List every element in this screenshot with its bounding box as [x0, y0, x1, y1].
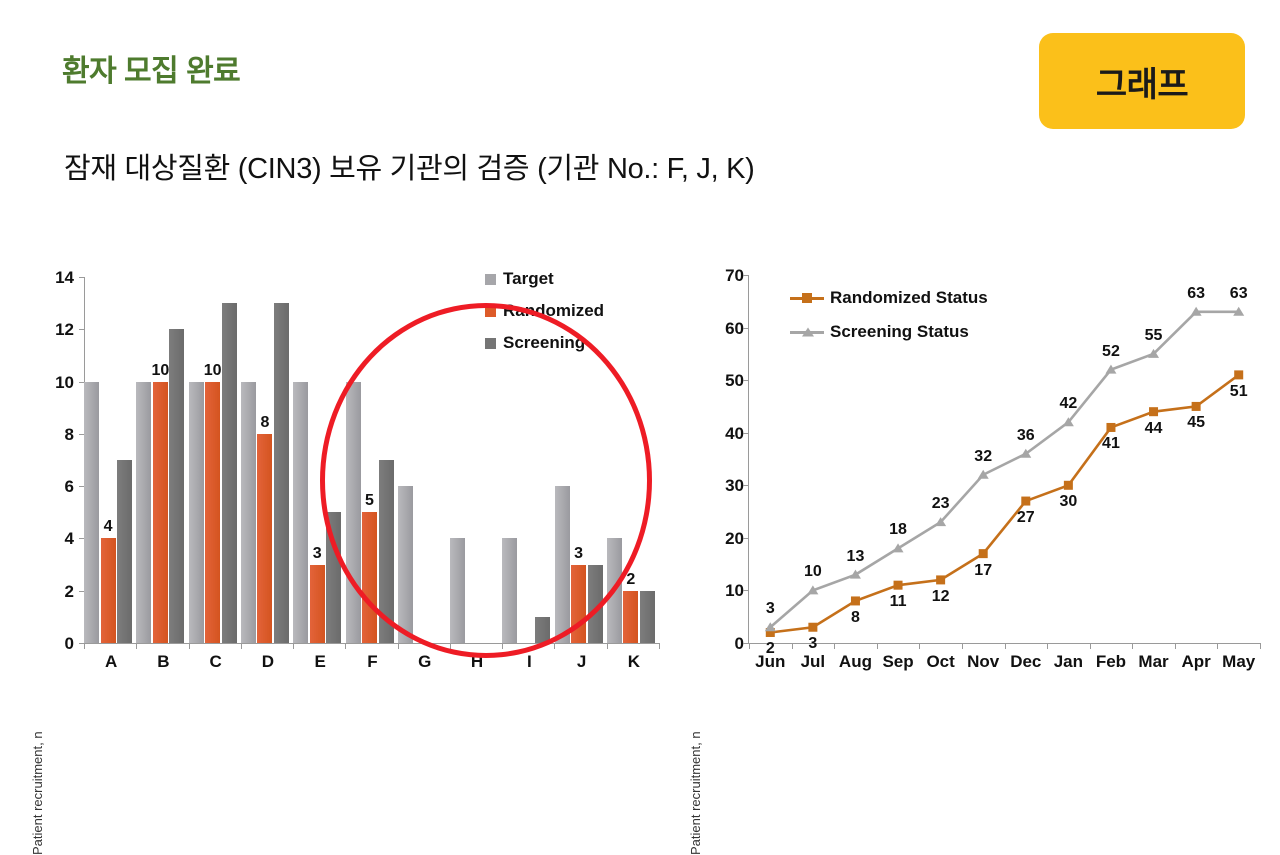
line-point-label-screening-status-Jul: 10: [793, 564, 833, 580]
line-marker-randomized-status-Dec: [1021, 497, 1030, 506]
bar-chart-y-tick-label: 4: [40, 530, 74, 547]
bar-chart-x-label-H: H: [451, 653, 503, 670]
bar-chart-y-tick-label: 6: [40, 478, 74, 495]
bar-legend-label: Randomized: [503, 301, 604, 321]
line-point-label-randomized-status-Nov: 17: [963, 563, 1003, 579]
bar-screening-D: [274, 303, 289, 643]
legend-triangle-marker-icon: [802, 328, 814, 337]
line-marker-randomized-status-Nov: [979, 549, 988, 558]
line-point-label-screening-status-Oct: 23: [921, 496, 961, 512]
bar-chart-y-tick-label: 0: [40, 635, 74, 652]
bar-chart-y-axis-title: Patient recruitment, n: [30, 731, 45, 855]
line-marker-randomized-status-Aug: [851, 596, 860, 605]
bar-value-label-F: 5: [353, 493, 386, 509]
bar-target-K: [607, 538, 622, 643]
line-point-label-screening-status-Mar: 55: [1134, 328, 1174, 344]
bar-chart-x-tick-mark: [607, 643, 608, 649]
line-chart-x-label-Feb: Feb: [1090, 653, 1133, 670]
line-chart-x-tick-mark: [1047, 643, 1048, 649]
bar-legend-label: Target: [503, 269, 554, 289]
line-chart-x-label-Mar: Mar: [1132, 653, 1175, 670]
bar-chart-x-label-G: G: [399, 653, 451, 670]
bar-target-J: [555, 486, 570, 643]
bar-chart-x-tick-mark: [293, 643, 294, 649]
line-chart-x-tick-mark: [1090, 643, 1091, 649]
bar-randomized-B: [153, 382, 168, 643]
line-point-label-randomized-status-Sep: 11: [878, 594, 918, 610]
line-point-label-screening-status-Aug: 13: [835, 549, 875, 565]
line-point-label-randomized-status-Jan: 30: [1048, 494, 1088, 510]
page-subtitle: 잠재 대상질환 (CIN3) 보유 기관의 검증 (기관 No.: F, J, …: [64, 145, 755, 187]
bar-chart-y-tick-label: 10: [40, 374, 74, 391]
slide-root: 환자 모집 완료 그래프 잠재 대상질환 (CIN3) 보유 기관의 검증 (기…: [0, 0, 1280, 720]
line-chart-x-label-Jul: Jul: [792, 653, 835, 670]
bar-chart-x-tick-mark: [554, 643, 555, 649]
bar-value-label-J: 3: [562, 546, 595, 562]
legend-swatch-icon: [485, 306, 496, 317]
line-marker-randomized-status-May: [1234, 370, 1243, 379]
bar-chart: Patient recruitment, n 02468101214 41010…: [0, 255, 670, 675]
line-legend-item-screening-status[interactable]: Screening Status: [790, 322, 969, 342]
line-point-label-randomized-status-Aug: 8: [835, 610, 875, 626]
bar-legend-label: Screening: [503, 333, 585, 353]
bar-screening-A: [117, 460, 132, 643]
bar-randomized-F: [362, 512, 377, 643]
line-chart-y-axis-title: Patient recruitment, n: [688, 731, 703, 855]
bar-value-label-C: 10: [196, 363, 229, 379]
bar-chart-y-tick-label: 12: [40, 321, 74, 338]
line-point-label-randomized-status-Apr: 45: [1176, 415, 1216, 431]
bar-chart-y-tick-label: 14: [40, 269, 74, 286]
bar-value-label-A: 4: [92, 519, 125, 535]
line-marker-randomized-status-Feb: [1106, 423, 1115, 432]
legend-line-icon: [790, 297, 824, 300]
bar-chart-x-label-B: B: [137, 653, 189, 670]
line-point-label-randomized-status-Feb: 41: [1091, 436, 1131, 452]
line-chart-x-label-Dec: Dec: [1005, 653, 1048, 670]
line-point-label-screening-status-Feb: 52: [1091, 344, 1131, 360]
bar-randomized-A: [101, 538, 116, 643]
bar-chart-x-label-A: A: [85, 653, 137, 670]
line-point-label-randomized-status-Dec: 27: [1006, 510, 1046, 526]
line-marker-randomized-status-Oct: [936, 575, 945, 584]
bar-screening-F: [379, 460, 394, 643]
bar-chart-x-label-C: C: [190, 653, 242, 670]
bar-chart-x-tick-mark: [659, 643, 660, 649]
bar-randomized-D: [257, 434, 272, 643]
bar-chart-y-tick-label: 2: [40, 583, 74, 600]
line-chart-x-tick-mark: [792, 643, 793, 649]
line-point-label-randomized-status-Jul: 3: [793, 636, 833, 652]
bar-chart-x-tick-mark: [84, 643, 85, 649]
bar-target-E: [293, 382, 308, 643]
line-chart-x-label-Jan: Jan: [1047, 653, 1090, 670]
bar-target-H: [450, 538, 465, 643]
line-chart-x-label-Oct: Oct: [919, 653, 962, 670]
bar-randomized-K: [623, 591, 638, 643]
line-point-label-screening-status-May: 63: [1219, 286, 1259, 302]
line-marker-randomized-status-Sep: [894, 581, 903, 590]
line-marker-randomized-status-Apr: [1192, 402, 1201, 411]
line-chart-x-label-Apr: Apr: [1175, 653, 1218, 670]
bar-target-F: [346, 382, 361, 643]
legend-square-marker-icon: [802, 293, 812, 303]
bar-chart-plot-area: 4101083532: [85, 277, 660, 643]
bar-screening-C: [222, 303, 237, 643]
bar-chart-x-tick-mark: [345, 643, 346, 649]
bar-value-label-K: 2: [614, 572, 647, 588]
line-legend-item-randomized-status[interactable]: Randomized Status: [790, 288, 988, 308]
line-chart-x-tick-mark: [1005, 643, 1006, 649]
bar-legend-item-randomized[interactable]: Randomized: [485, 301, 604, 321]
line-point-label-screening-status-Dec: 36: [1006, 428, 1046, 444]
line-point-label-randomized-status-May: 51: [1219, 384, 1259, 400]
legend-line-icon: [790, 331, 824, 334]
bar-target-A: [84, 382, 99, 643]
line-chart-x-label-Nov: Nov: [962, 653, 1005, 670]
line-point-label-screening-status-Apr: 63: [1176, 286, 1216, 302]
page-title: 환자 모집 완료: [62, 46, 240, 90]
line-point-label-randomized-status-Oct: 12: [921, 589, 961, 605]
line-series-screening-status: [770, 312, 1238, 627]
bar-screening-J: [588, 565, 603, 643]
line-point-label-randomized-status-Mar: 44: [1134, 421, 1174, 437]
line-legend-label: Screening Status: [830, 322, 969, 342]
bar-screening-K: [640, 591, 655, 643]
line-chart-x-tick-mark: [1132, 643, 1133, 649]
bar-legend-item-screening[interactable]: Screening: [485, 333, 585, 353]
line-point-label-screening-status-Jan: 42: [1048, 396, 1088, 412]
line-chart-x-label-Aug: Aug: [834, 653, 877, 670]
line-point-label-screening-status-Jun: 3: [750, 601, 790, 617]
line-chart-x-label-Sep: Sep: [877, 653, 920, 670]
bar-randomized-C: [205, 382, 220, 643]
legend-swatch-icon: [485, 338, 496, 349]
bar-screening-E: [326, 512, 341, 643]
bar-value-label-D: 8: [248, 415, 281, 431]
bar-chart-x-tick-mark: [398, 643, 399, 649]
line-chart-x-tick-mark: [749, 643, 750, 649]
bar-chart-y-tick-label: 8: [40, 426, 74, 443]
line-chart-x-label-May: May: [1217, 653, 1260, 670]
line-chart-x-tick-mark: [1217, 643, 1218, 649]
bar-value-label-B: 10: [144, 363, 177, 379]
bar-chart-x-label-D: D: [242, 653, 294, 670]
line-series-randomized-status: [770, 375, 1238, 633]
line-chart-x-tick-mark: [962, 643, 963, 649]
bar-chart-x-label-E: E: [294, 653, 346, 670]
line-marker-randomized-status-Jan: [1064, 481, 1073, 490]
line-chart-x-tick-mark: [1260, 643, 1261, 649]
bar-screening-I: [535, 617, 550, 643]
line-chart-x-tick-mark: [1175, 643, 1176, 649]
bar-target-G: [398, 486, 413, 643]
bar-value-label-E: 3: [301, 546, 334, 562]
line-point-label-screening-status-Sep: 18: [878, 522, 918, 538]
line-marker-randomized-status-Mar: [1149, 407, 1158, 416]
line-chart-x-tick-mark: [919, 643, 920, 649]
bar-chart-x-label-I: I: [503, 653, 555, 670]
bar-randomized-E: [310, 565, 325, 643]
bar-chart-x-tick-mark: [241, 643, 242, 649]
bar-target-I: [502, 538, 517, 643]
bar-randomized-J: [571, 565, 586, 643]
bar-chart-x-tick-mark: [502, 643, 503, 649]
line-chart-x-tick-mark: [877, 643, 878, 649]
bar-chart-x-tick-mark: [450, 643, 451, 649]
line-legend-label: Randomized Status: [830, 288, 988, 308]
graph-badge-label: 그래프: [1096, 57, 1188, 106]
bar-legend-item-target[interactable]: Target: [485, 269, 554, 289]
bar-chart-x-label-F: F: [346, 653, 398, 670]
bar-chart-x-axis-line: [84, 643, 660, 644]
line-chart-x-label-Jun: Jun: [749, 653, 792, 670]
legend-swatch-icon: [485, 274, 496, 285]
bar-target-C: [189, 382, 204, 643]
bar-chart-x-label-K: K: [608, 653, 660, 670]
line-marker-randomized-status-Jul: [808, 623, 817, 632]
graph-badge: 그래프: [1039, 33, 1245, 129]
bar-chart-x-tick-mark: [189, 643, 190, 649]
line-chart: Patient recruitment, n 010203040506070 2…: [680, 255, 1280, 675]
bar-chart-x-label-J: J: [555, 653, 607, 670]
line-chart-x-tick-mark: [834, 643, 835, 649]
line-point-label-screening-status-Nov: 32: [963, 449, 1003, 465]
bar-chart-x-tick-mark: [136, 643, 137, 649]
bar-target-B: [136, 382, 151, 643]
